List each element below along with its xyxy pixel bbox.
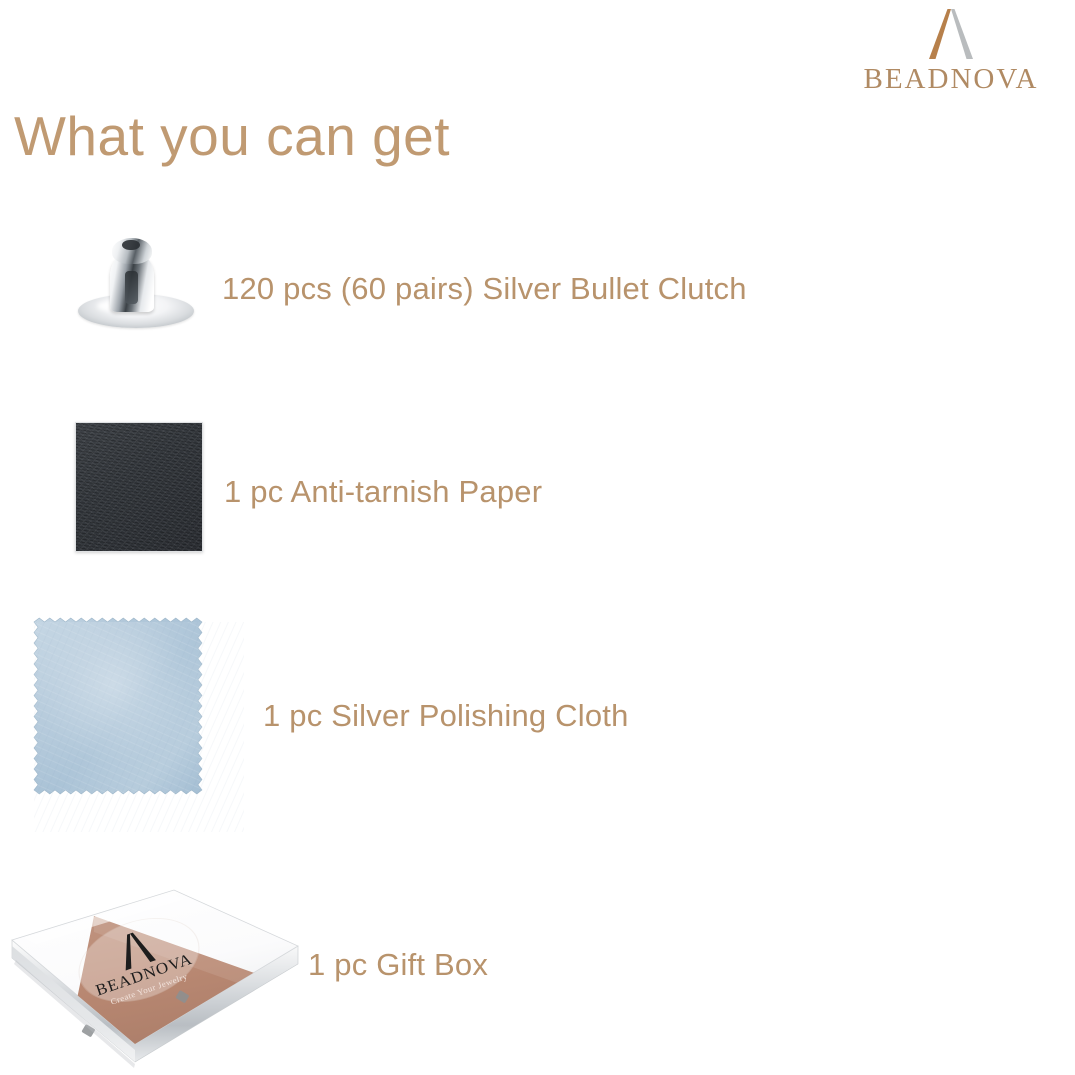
- item-label-anti-tarnish-paper: 1 pc Anti-tarnish Paper: [224, 474, 542, 510]
- polishing-cloth-svg: [28, 616, 250, 838]
- silver-bullet-clutch-image: [72, 232, 200, 332]
- item-label-silver-polishing-cloth: 1 pc Silver Polishing Cloth: [263, 698, 629, 734]
- brand-wordmark: BEADNOVA: [841, 63, 1061, 96]
- gift-box-svg: BEADNOVA Create Your Jewelry: [2, 872, 302, 1072]
- page-title: What you can get: [14, 104, 450, 168]
- product-inclusions-infographic: BEADNOVA What you can get 120 pcs (60 pa…: [0, 0, 1075, 1075]
- gift-box-image: BEADNOVA Create Your Jewelry: [2, 872, 302, 1072]
- item-label-silver-bullet-clutch: 120 pcs (60 pairs) Silver Bullet Clutch: [222, 271, 747, 307]
- silver-polishing-cloth-image: [28, 616, 250, 838]
- brand-logo: BEADNOVA: [841, 6, 1061, 102]
- item-label-gift-box: 1 pc Gift Box: [308, 947, 488, 983]
- anti-tarnish-paper-image: [75, 422, 203, 552]
- beadnova-triangle-logo-icon: [923, 6, 979, 62]
- clutch-cap: [112, 238, 152, 264]
